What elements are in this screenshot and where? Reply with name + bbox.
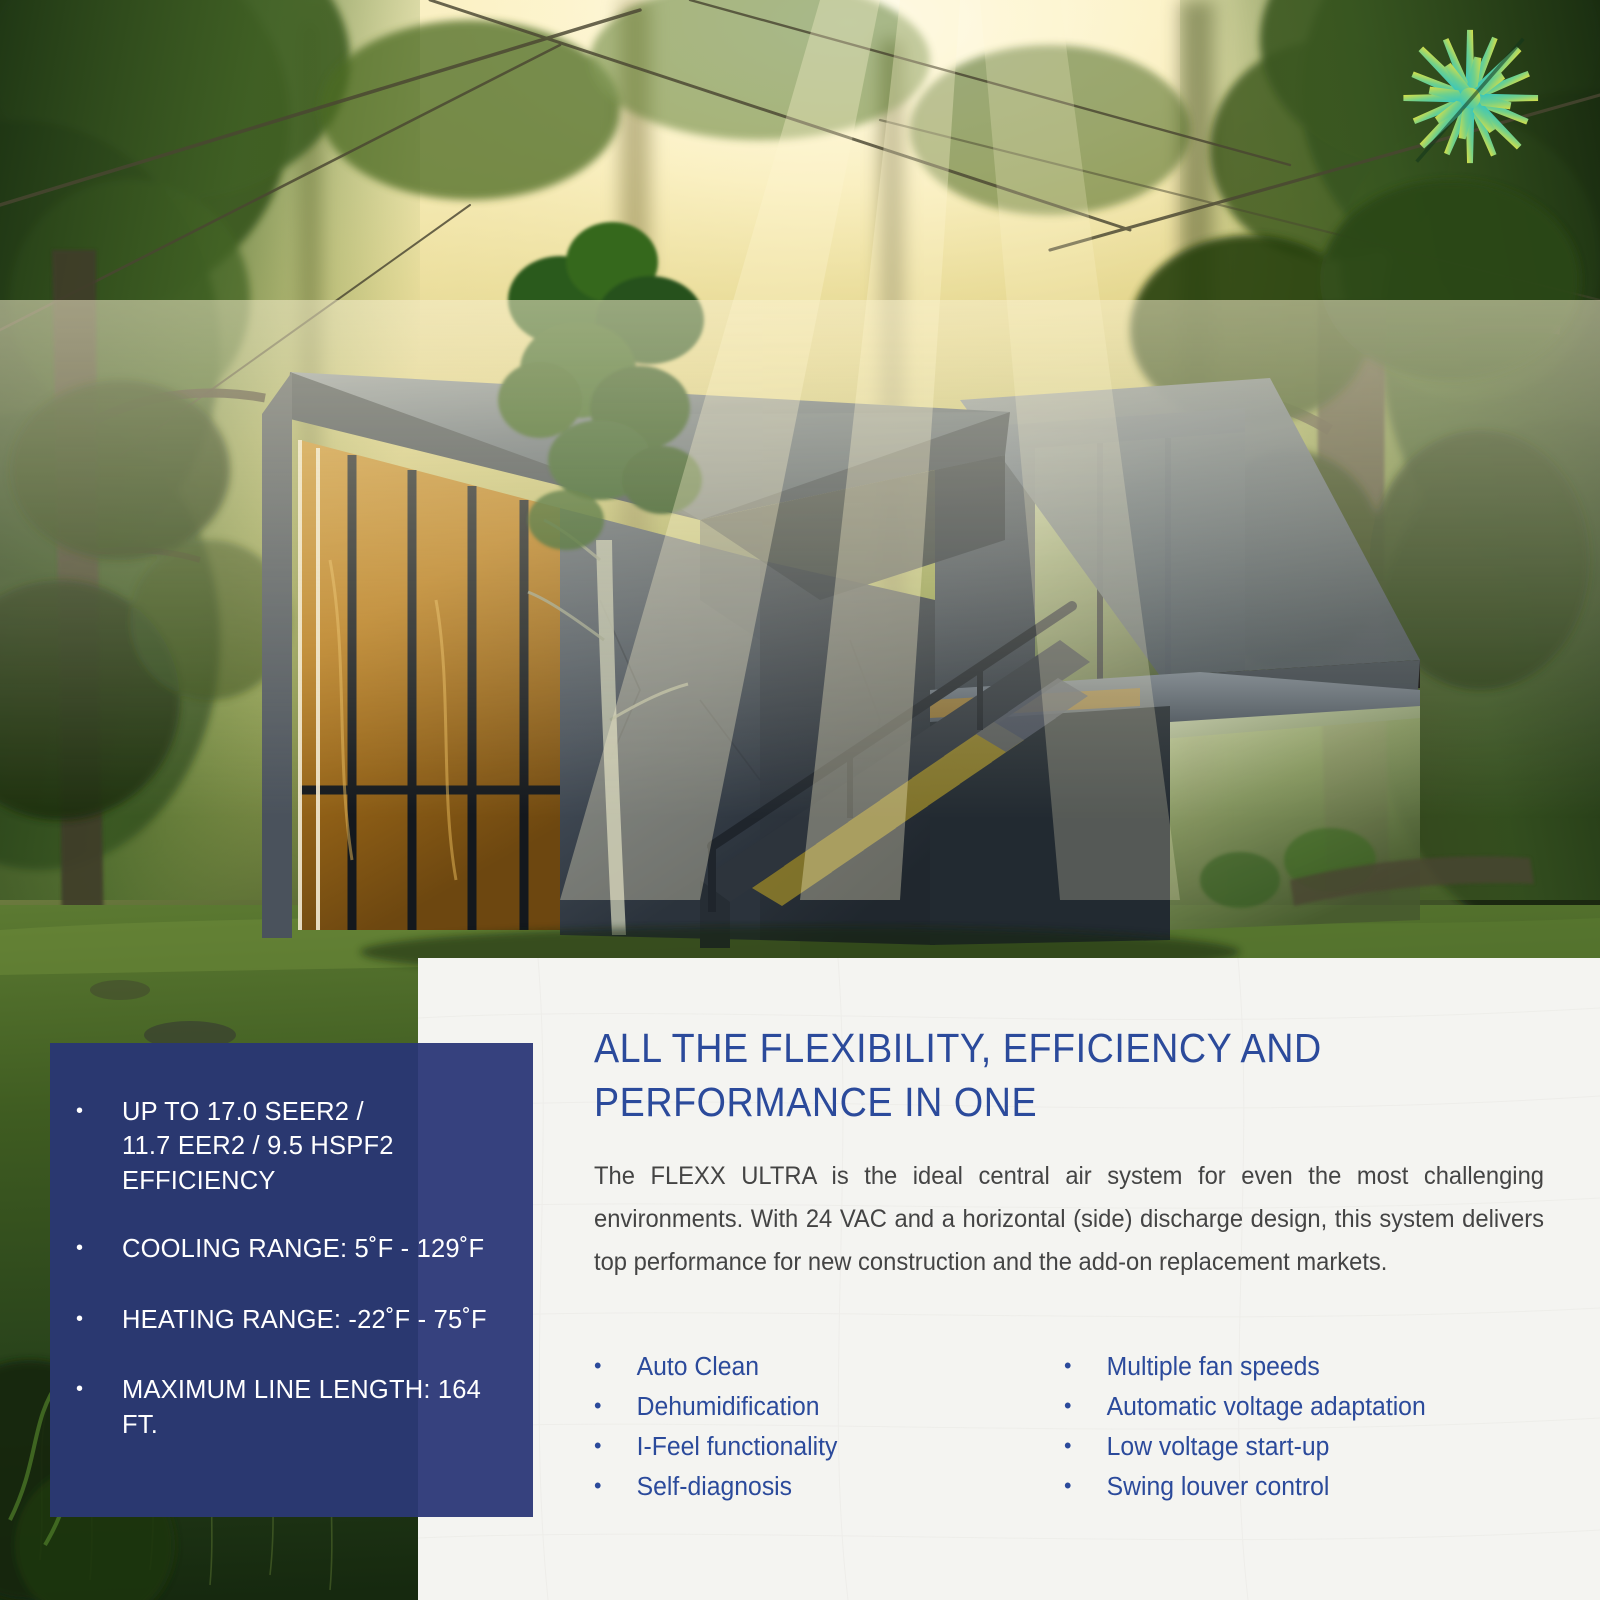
list-item: Automatic voltage adaptation: [1064, 1393, 1520, 1433]
list-item: Swing louver control: [1064, 1473, 1520, 1513]
bullet-dot-icon: [76, 1095, 122, 1128]
list-item: Dehumidification: [594, 1393, 1050, 1433]
list-item: COOLING RANGE: 5˚F - 129˚F: [76, 1232, 515, 1266]
feature-label: Automatic voltage adaptation: [1107, 1393, 1426, 1422]
list-item: HEATING RANGE: -22˚F - 75˚F: [76, 1303, 515, 1337]
specifications-panel: UP TO 17.0 SEER2 / 11.7 EER2 / 9.5 HSPF2…: [50, 1043, 533, 1517]
list-item: MAXIMUM LINE LENGTH: 164 FT.: [76, 1373, 515, 1442]
bullet-dot-icon: [594, 1475, 637, 1497]
list-item: UP TO 17.0 SEER2 / 11.7 EER2 / 9.5 HSPF2…: [76, 1095, 515, 1198]
bullet-dot-icon: [1064, 1475, 1107, 1497]
specifications-list: UP TO 17.0 SEER2 / 11.7 EER2 / 9.5 HSPF2…: [50, 1043, 533, 1517]
spec-label: HEATING RANGE: -22˚F - 75˚F: [122, 1303, 487, 1337]
product-feature-page: ALL THE FLEXIBILITY, EFFICIENCY AND PERF…: [0, 0, 1600, 1600]
feature-label: Multiple fan speeds: [1107, 1353, 1320, 1382]
list-item: Low voltage start-up: [1064, 1433, 1520, 1473]
feature-label: Swing louver control: [1107, 1473, 1330, 1502]
feature-label: Dehumidification: [637, 1393, 820, 1422]
bullet-dot-icon: [76, 1232, 122, 1265]
spec-label: MAXIMUM LINE LENGTH: 164 FT.: [122, 1373, 515, 1442]
starburst-logo-icon: [1396, 24, 1544, 172]
bullet-dot-icon: [76, 1303, 122, 1336]
spec-label: UP TO 17.0 SEER2 / 11.7 EER2 / 9.5 HSPF2…: [122, 1095, 394, 1198]
bullet-dot-icon: [1064, 1435, 1107, 1457]
feature-label: Low voltage start-up: [1107, 1433, 1330, 1462]
feature-column-left: Auto Clean Dehumidification I-Feel funct…: [594, 1353, 1064, 1513]
feature-label: Auto Clean: [637, 1353, 759, 1382]
bullet-dot-icon: [76, 1373, 122, 1406]
feature-label: I-Feel functionality: [637, 1433, 838, 1462]
page-title: ALL THE FLEXIBILITY, EFFICIENCY AND PERF…: [594, 1022, 1466, 1130]
list-item: Multiple fan speeds: [1064, 1353, 1520, 1393]
feature-label: Self-diagnosis: [637, 1473, 792, 1502]
product-description: The FLEXX ULTRA is the ideal central air…: [594, 1155, 1544, 1284]
list-item: I-Feel functionality: [594, 1433, 1050, 1473]
bullet-dot-icon: [1064, 1395, 1107, 1417]
content-panel: ALL THE FLEXIBILITY, EFFICIENCY AND PERF…: [418, 958, 1600, 1600]
bullet-dot-icon: [1064, 1355, 1107, 1377]
bullet-dot-icon: [594, 1395, 637, 1417]
list-item: Self-diagnosis: [594, 1473, 1050, 1513]
bullet-dot-icon: [594, 1355, 637, 1377]
bullet-dot-icon: [594, 1435, 637, 1457]
feature-column-right: Multiple fan speeds Automatic voltage ad…: [1064, 1353, 1534, 1513]
feature-list: Auto Clean Dehumidification I-Feel funct…: [594, 1353, 1534, 1513]
spec-label: COOLING RANGE: 5˚F - 129˚F: [122, 1232, 484, 1266]
list-item: Auto Clean: [594, 1353, 1050, 1393]
